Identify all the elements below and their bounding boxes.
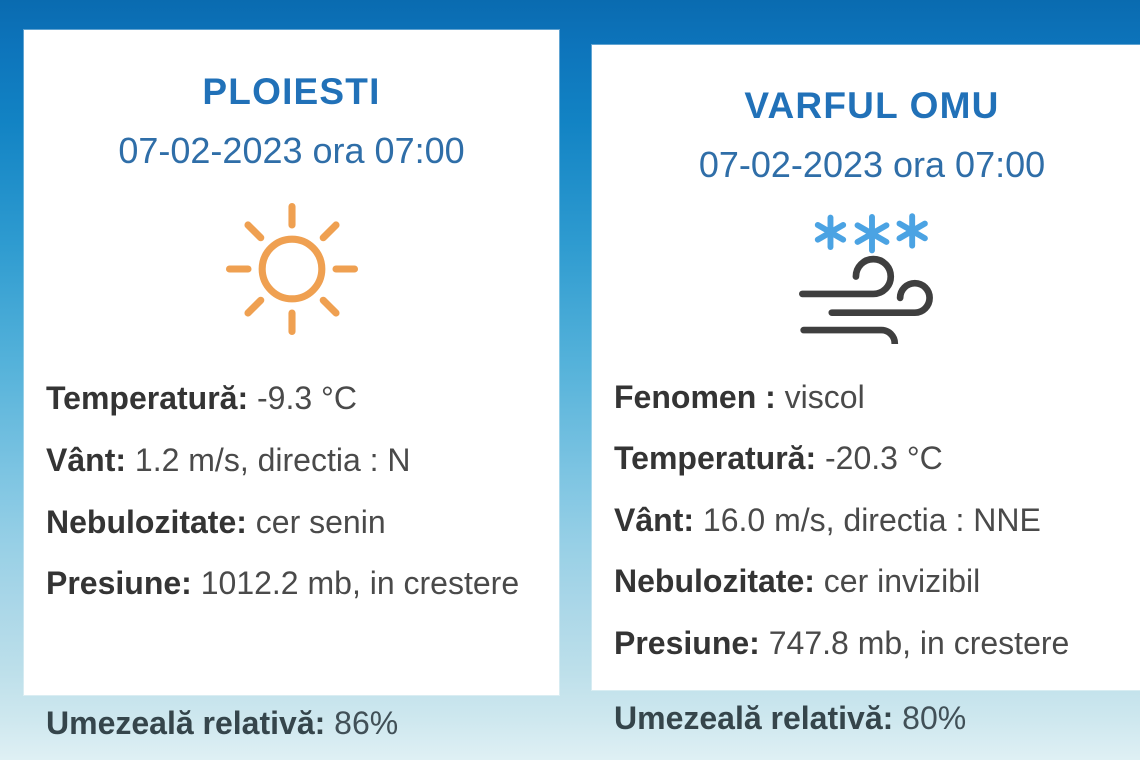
detail-value: 1012.2 mb, in crestere [201, 565, 519, 601]
weather-card-varful-omu: VARFUL OMU 07-02-2023 ora 07:00 [592, 45, 1140, 690]
detail-separator: : [237, 380, 248, 416]
detail-label: Vânt [614, 502, 683, 538]
detail-cloudiness: Nebulozitate: cer invizibil [614, 551, 1140, 612]
detail-separator: : [181, 565, 192, 601]
detail-separator: : [749, 625, 760, 661]
station-datetime: 07-02-2023 ora 07:00 [34, 130, 549, 172]
detail-value: -9.3 °C [257, 380, 357, 416]
detail-label: Nebulozitate [614, 563, 804, 599]
detail-value: cer senin [256, 504, 386, 540]
detail-pressure: Presiune: 747.8 mb, in crestere [614, 613, 1140, 674]
detail-temperature: Temperatură: -9.3 °C [46, 368, 549, 430]
detail-wind: Vânt: 1.2 m/s, directia : N [46, 430, 549, 492]
detail-wind: Vânt: 16.0 m/s, directia : NNE [614, 490, 1140, 551]
snowflake-group [818, 216, 925, 250]
detail-separator: : [804, 563, 815, 599]
detail-label: Nebulozitate [46, 504, 236, 540]
detail-label: Vânt [46, 442, 115, 478]
detail-separator: : [115, 442, 126, 478]
detail-pressure: Presiune: 1012.2 mb, in crestere [46, 553, 549, 615]
detail-separator: : [683, 502, 694, 538]
card-content: PLOIESTI 07-02-2023 ora 07:00 [34, 40, 549, 685]
detail-value: cer invizibil [824, 563, 980, 599]
sun-icon [221, 198, 363, 340]
station-name: PLOIESTI [34, 71, 549, 113]
humidity-label: Umezeală relativă [614, 700, 883, 736]
weather-card-ploiesti: PLOIESTI 07-02-2023 ora 07:00 [24, 30, 559, 695]
detail-value: viscol [785, 379, 865, 415]
station-name: VARFUL OMU [602, 85, 1140, 127]
station-datetime: 07-02-2023 ora 07:00 [602, 144, 1140, 186]
detail-phenomenon: Fenomen : viscol [614, 367, 1140, 428]
humidity-ploiesti: Umezeală relativă: 86% [46, 705, 398, 742]
detail-label: Temperatură [46, 380, 237, 416]
detail-cloudiness: Nebulozitate: cer senin [46, 492, 549, 554]
weather-icon-slot [34, 194, 549, 344]
detail-value: 16.0 m/s, directia : NNE [703, 502, 1041, 538]
humidity-value: 80% [902, 700, 966, 736]
detail-label: Presiune [614, 625, 749, 661]
detail-label: Presiune [46, 565, 181, 601]
detail-list: Fenomen : viscol Temperatură: -20.3 °C V… [602, 367, 1140, 674]
detail-label: Fenomen [614, 379, 765, 415]
blizzard-icon [797, 209, 947, 344]
detail-value: 1.2 m/s, directia : N [135, 442, 411, 478]
detail-separator: : [236, 504, 247, 540]
humidity-label: Umezeală relativă [46, 705, 315, 741]
weather-icon-slot [602, 204, 1140, 349]
detail-value: 747.8 mb, in crestere [769, 625, 1070, 661]
detail-temperature: Temperatură: -20.3 °C [614, 428, 1140, 489]
weather-widget-stage: PLOIESTI 07-02-2023 ora 07:00 [0, 0, 1140, 760]
card-content: VARFUL OMU 07-02-2023 ora 07:00 [602, 55, 1140, 680]
detail-label: Temperatură [614, 440, 805, 476]
detail-separator: : [805, 440, 816, 476]
humidity-varful-omu: Umezeală relativă: 80% [614, 700, 966, 737]
humidity-separator: : [883, 700, 894, 736]
wind-group [802, 259, 929, 343]
humidity-separator: : [315, 705, 326, 741]
detail-list: Temperatură: -9.3 °C Vânt: 1.2 m/s, dire… [34, 368, 549, 615]
detail-value: -20.3 °C [825, 440, 943, 476]
detail-separator: : [765, 379, 776, 415]
humidity-value: 86% [334, 705, 398, 741]
